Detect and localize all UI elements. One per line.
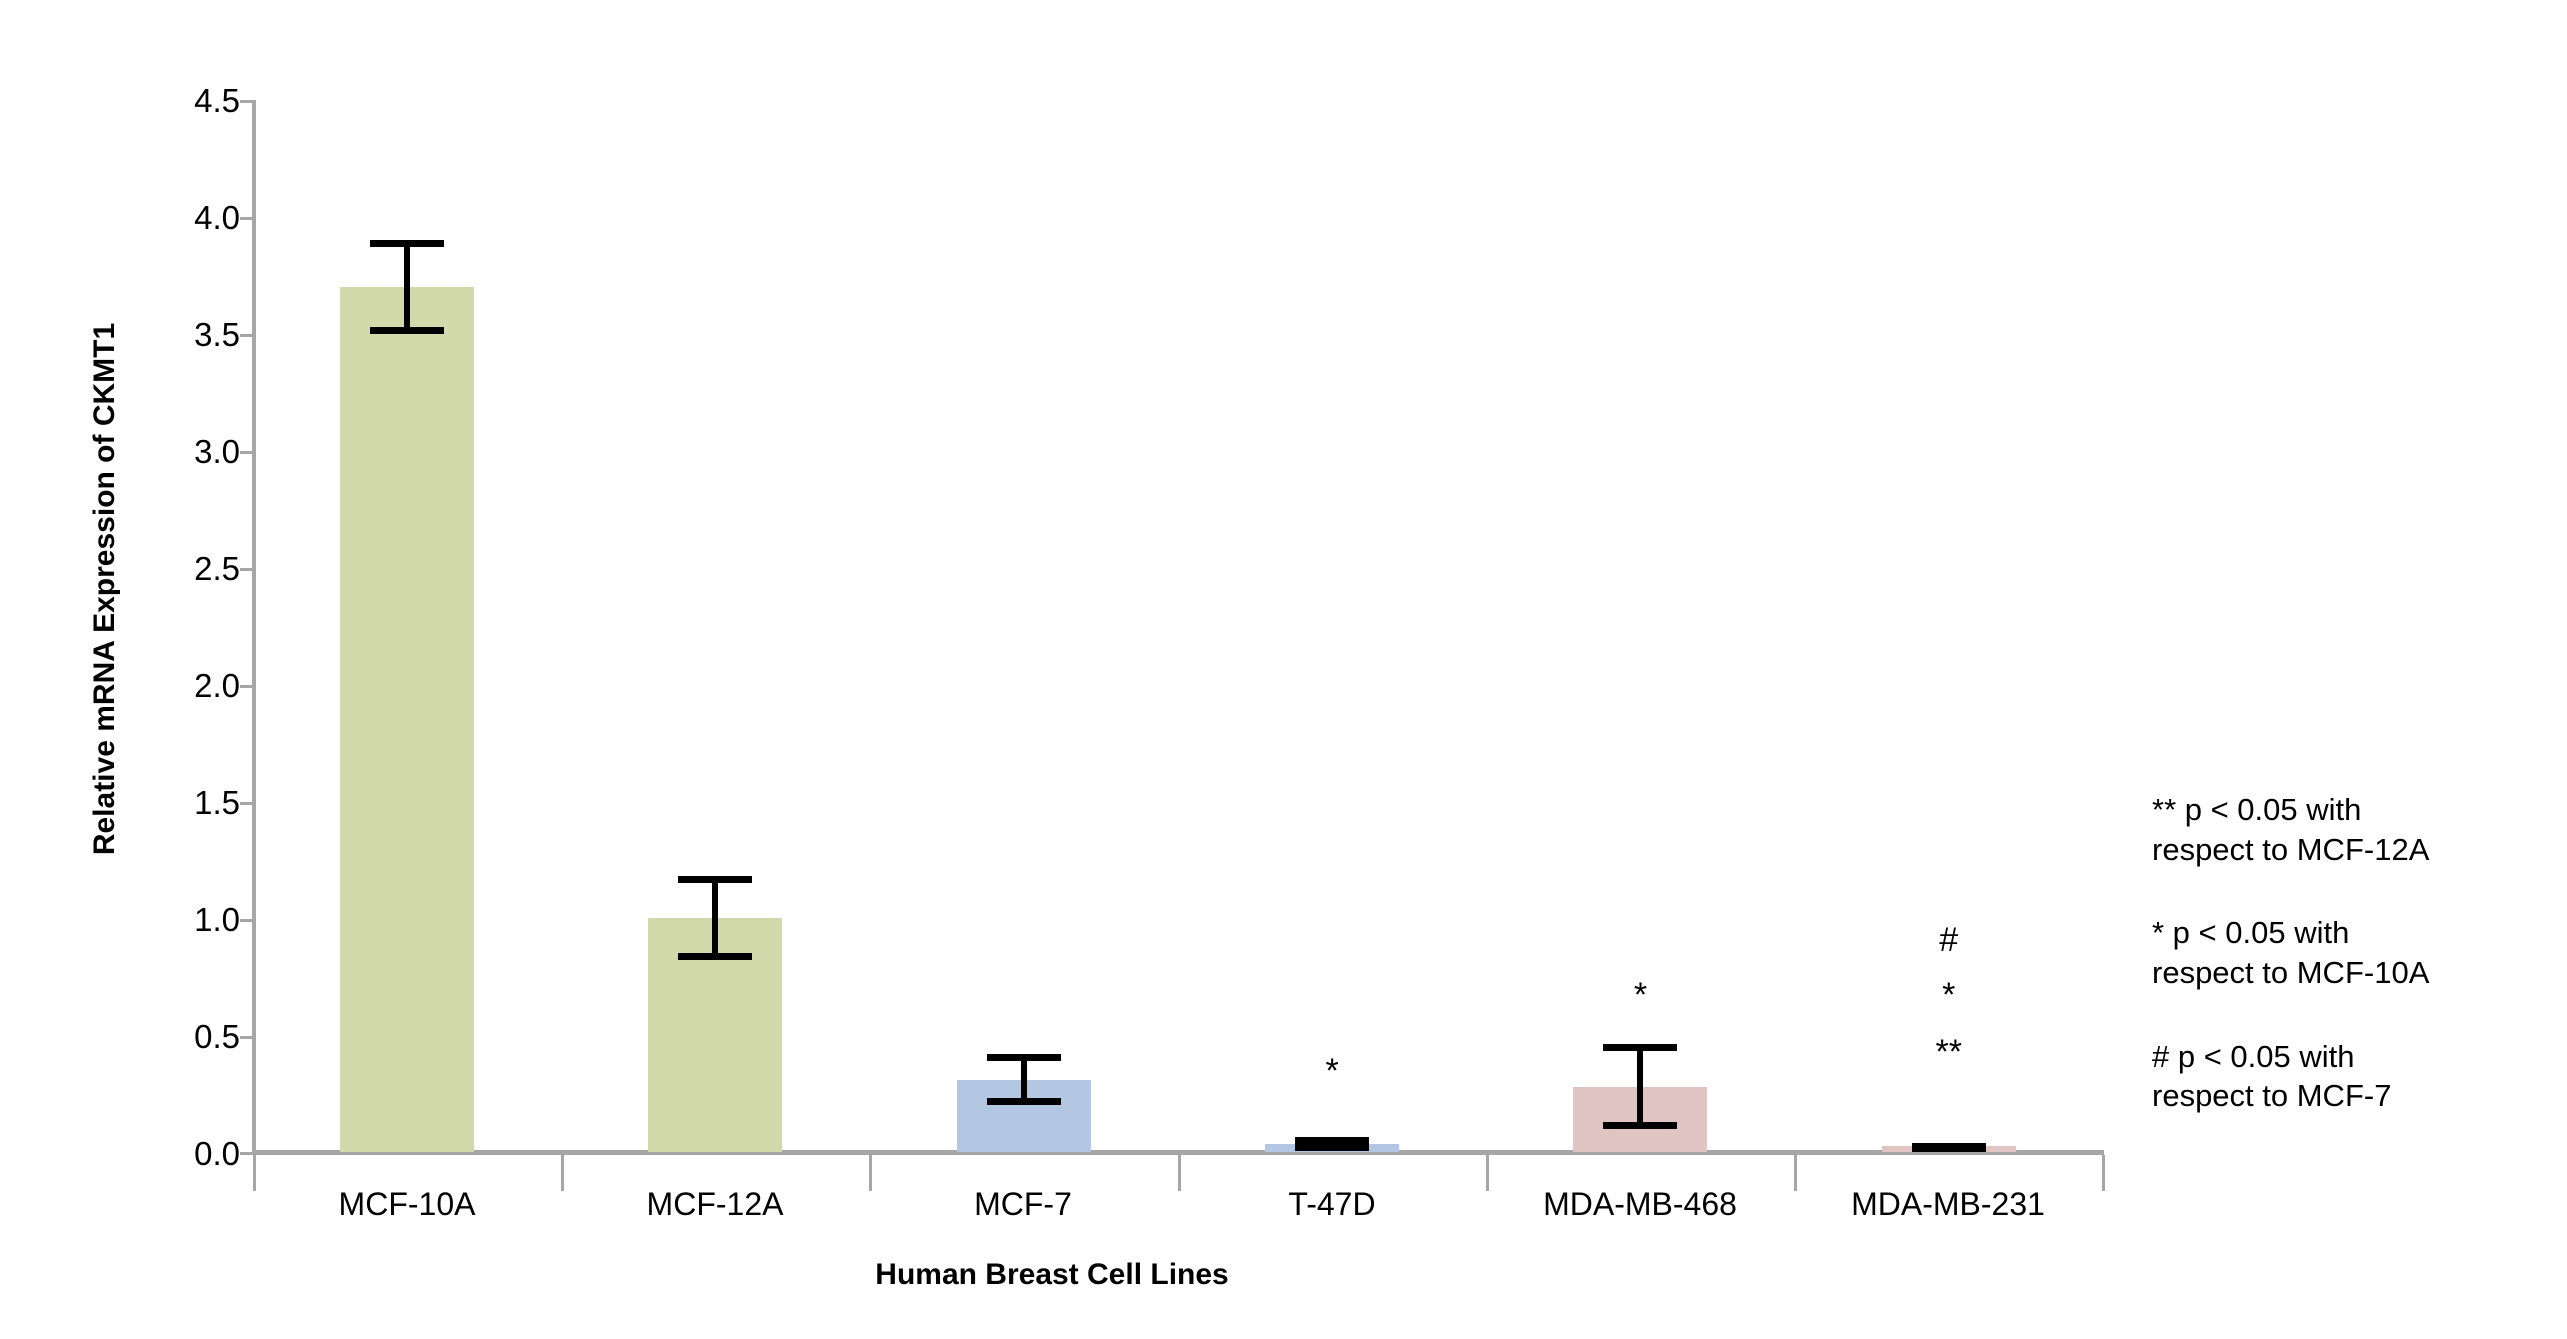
error-bar-mda-mb-231 [1912, 1143, 1986, 1152]
legend-note-double-star-line1: ** p < 0.05 with [2152, 790, 2552, 830]
legend-note-double-star: ** p < 0.05 with respect to MCF-12A [2152, 790, 2552, 869]
bar-group-mcf-7[interactable] [870, 100, 1178, 1152]
error-bar-t-47d [1295, 1137, 1369, 1151]
significance-legend: ** p < 0.05 with respect to MCF-12A * p … [2152, 790, 2552, 1116]
y-tick-label-1-0: 1.0 [130, 901, 240, 939]
bar-group-mda-mb-468[interactable]: * [1486, 100, 1794, 1152]
x-tick-label-t-47d: T-47D [1167, 1186, 1497, 1223]
significance-mark-t-47d: * [1326, 1054, 1339, 1088]
error-bar-mda-mb-468 [1603, 1044, 1677, 1129]
y-tick-label-2-0: 2.0 [130, 667, 240, 705]
legend-note-star: * p < 0.05 with respect to MCF-10A [2152, 913, 2552, 992]
significance-mark-mda-mb-231-star: * [1942, 978, 1955, 1012]
legend-note-double-star-line2: respect to MCF-12A [2152, 830, 2552, 870]
plot-area: * * # * ** [253, 100, 2103, 1152]
bar-chart-figure: Relative mRNA Expression of CKMT1 4.5 4.… [0, 0, 2567, 1339]
y-tick-label-0-0: 0.0 [130, 1135, 240, 1173]
x-tick-label-mcf-10a: MCF-10A [242, 1186, 572, 1223]
y-tick-label-2-5: 2.5 [130, 550, 240, 588]
bar-group-mcf-12a[interactable] [561, 100, 869, 1152]
legend-note-hash-line1: # p < 0.05 with [2152, 1037, 2552, 1077]
y-axis-title: Relative mRNA Expression of CKMT1 [88, 279, 122, 899]
x-tick-label-mcf-7: MCF-7 [858, 1186, 1188, 1223]
legend-note-star-line1: * p < 0.05 with [2152, 913, 2552, 953]
y-tick-label-4-0: 4.0 [130, 199, 240, 237]
bar-group-mda-mb-231[interactable]: # * ** [1795, 100, 2103, 1152]
bar-mcf-10a[interactable] [340, 287, 474, 1152]
y-tick-label-3-5: 3.5 [130, 316, 240, 354]
error-bar-mcf-7 [987, 1054, 1061, 1105]
y-tick-label-3-0: 3.0 [130, 433, 240, 471]
legend-note-hash: # p < 0.05 with respect to MCF-7 [2152, 1037, 2552, 1116]
x-tick-label-mda-mb-468: MDA-MB-468 [1475, 1186, 1805, 1223]
significance-mark-mda-mb-468: * [1634, 978, 1647, 1012]
x-tick-label-mda-mb-231: MDA-MB-231 [1783, 1186, 2113, 1223]
legend-note-hash-line2: respect to MCF-7 [2152, 1076, 2552, 1116]
y-tick-label-0-5: 0.5 [130, 1018, 240, 1056]
y-tick-label-4-5: 4.5 [130, 82, 240, 120]
bar-group-mcf-10a[interactable] [253, 100, 561, 1152]
error-bar-mcf-10a [370, 240, 444, 334]
significance-mark-mda-mb-231-hash: # [1939, 923, 1958, 957]
legend-note-star-line2: respect to MCF-10A [2152, 953, 2552, 993]
significance-mark-mda-mb-231-double-star: ** [1936, 1035, 1962, 1069]
y-tick-label-1-5: 1.5 [130, 784, 240, 822]
error-bar-mcf-12a [678, 876, 752, 960]
bar-group-t-47d[interactable]: * [1178, 100, 1486, 1152]
x-axis-title: Human Breast Cell Lines [0, 1258, 2104, 1292]
x-tick-label-mcf-12a: MCF-12A [550, 1186, 880, 1223]
